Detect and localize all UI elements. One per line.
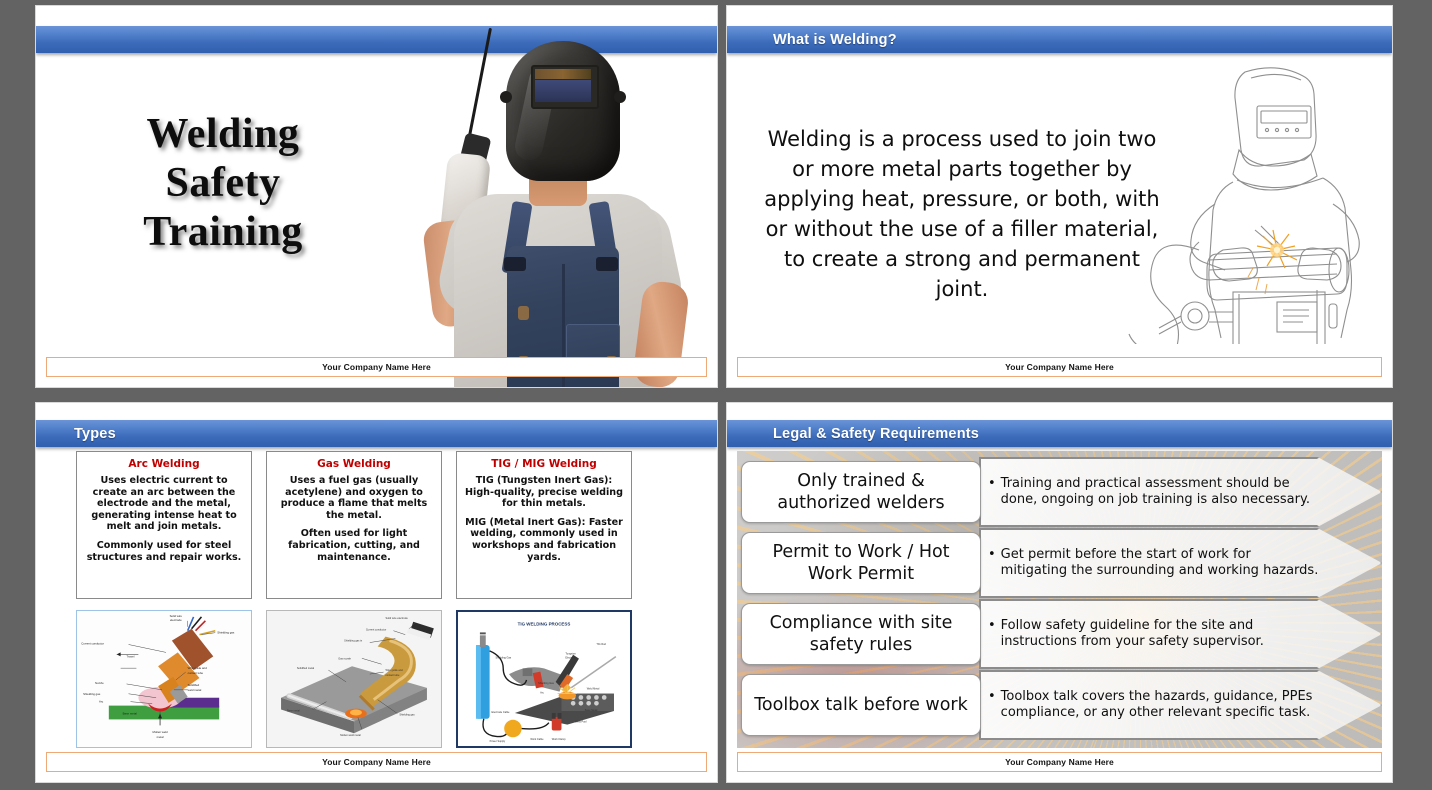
slide2-title-text: What is Welding? (727, 32, 897, 48)
svg-text:Base metal: Base metal (123, 711, 138, 715)
slide2-footer: Your Company Name Here (737, 357, 1382, 377)
slide4-title-bar: Legal & Safety Requirements (727, 420, 1392, 447)
svg-text:TIG Rod: TIG Rod (596, 643, 606, 646)
type-card-title: TIG / MIG Welding (464, 458, 624, 470)
svg-text:Shielding gas: Shielding gas (217, 631, 235, 635)
requirement-row: Only trained & authorized welders • Trai… (741, 457, 1382, 527)
svg-text:Current conductor: Current conductor (81, 642, 104, 646)
diagram-tig-welding: TIG WELDING PROCESS (456, 610, 632, 748)
svg-text:weld metal: weld metal (188, 688, 202, 692)
footer-company-name: Your Company Name Here (1005, 757, 1114, 767)
requirement-detail-text: Get permit before the start of work for … (1001, 547, 1321, 580)
requirement-detail: • Follow safety guideline for the site a… (980, 618, 1335, 651)
type-card-paragraph: Commonly used for steel structures and r… (84, 540, 244, 563)
svg-text:Solid wire electrode: Solid wire electrode (386, 616, 409, 620)
footer-company-name: Your Company Name Here (322, 757, 431, 767)
requirements-list: Only trained & authorized welders • Trai… (741, 457, 1382, 740)
svg-text:contact tube: contact tube (188, 671, 204, 675)
svg-text:Wire guide and: Wire guide and (386, 668, 404, 672)
type-card-paragraph: MIG (Metal Inert Gas): Faster welding, c… (464, 517, 624, 563)
svg-text:Tungsten: Tungsten (565, 653, 576, 656)
type-card-paragraph: Often used for light fabrication, cuttin… (274, 528, 434, 563)
slide-types[interactable]: Types Arc Welding Uses electric current … (36, 403, 717, 782)
svg-text:Shielding gas in: Shielding gas in (344, 639, 363, 643)
svg-text:Solidified metal: Solidified metal (297, 666, 315, 670)
svg-text:Gas nozzle: Gas nozzle (338, 656, 351, 660)
welding-types-row: Arc Welding Uses electric current to cre… (76, 451, 676, 599)
footer-company-name: Your Company Name Here (1005, 362, 1114, 372)
requirement-detail-text: Toolbox talk covers the hazards, guidanc… (1001, 689, 1321, 722)
title-line-2: Safety (78, 159, 368, 208)
svg-text:Work Cable: Work Cable (530, 738, 544, 741)
svg-text:Molten weld: Molten weld (152, 730, 168, 734)
requirement-chip[interactable]: Toolbox talk before work (741, 674, 981, 736)
requirement-arrow: • Get permit before the start of work fo… (979, 528, 1382, 598)
type-column-tig-mig: TIG / MIG Welding TIG (Tungsten Inert Ga… (456, 451, 632, 599)
helmet-lens (535, 80, 591, 102)
welding-definition-text: Welding is a process used to join two or… (757, 124, 1167, 304)
diagram-gas-welding: Solid wire electrode Current conductor S… (266, 610, 442, 748)
svg-text:Base Metal: Base Metal (585, 709, 598, 712)
requirement-chip[interactable]: Permit to Work / Hot Work Permit (741, 532, 981, 594)
welding-diagram-row: Solid wire electrode Shielding gas Curre… (76, 610, 676, 748)
slide-legal-safety[interactable]: Legal & Safety Requirements Only trained… (727, 403, 1392, 782)
requirement-detail: • Toolbox talk covers the hazards, guida… (980, 689, 1335, 722)
type-column-gas: Gas Welding Uses a fuel gas (usually ace… (266, 451, 442, 599)
bullet-icon: • (988, 689, 996, 722)
type-column-arc: Arc Welding Uses electric current to cre… (76, 451, 252, 599)
bullet-icon: • (988, 547, 996, 580)
type-card-paragraph: Uses a fuel gas (usually acetylene) and … (274, 475, 434, 521)
svg-text:Arc: Arc (540, 692, 545, 695)
overall-buckle-left (504, 257, 526, 271)
slide3-title-text: Types (36, 426, 116, 442)
type-card-paragraph: TIG (Tungsten Inert Gas): High-quality, … (464, 475, 624, 510)
requirement-detail-text: Follow safety guideline for the site and… (1001, 618, 1321, 651)
helmet-lens-display (535, 69, 591, 79)
requirement-detail-text: Training and practical assessment should… (1001, 476, 1321, 509)
helmet-knob-left (500, 91, 512, 103)
svg-text:Base metal: Base metal (287, 709, 300, 713)
diagram-arc-welding: Solid wire electrode Shielding gas Curre… (76, 610, 252, 748)
welder-photo (366, 6, 717, 387)
slide2-title-bar: What is Welding? (727, 26, 1392, 53)
requirement-chip[interactable]: Only trained & authorized welders (741, 461, 981, 523)
footer-company-name: Your Company Name Here (322, 362, 431, 372)
requirement-arrow: • Training and practical assessment shou… (979, 457, 1382, 527)
type-card-gas[interactable]: Gas Welding Uses a fuel gas (usually ace… (266, 451, 442, 599)
slide3-title-bar: Types (36, 420, 717, 447)
requirement-row: Compliance with site safety rules • Foll… (741, 599, 1382, 669)
svg-text:Electrode: Electrode (565, 657, 576, 660)
requirement-detail: • Training and practical assessment shou… (980, 476, 1335, 509)
requirement-arrow: • Follow safety guideline for the site a… (979, 599, 1382, 669)
helmet-knob-right (614, 91, 626, 103)
bullet-icon: • (988, 618, 996, 651)
svg-text:Wire guide and: Wire guide and (188, 666, 208, 670)
svg-text:Travel: Travel (127, 654, 135, 658)
slide4-title-text: Legal & Safety Requirements (727, 426, 979, 442)
svg-text:Solidified: Solidified (188, 683, 200, 687)
svg-text:Molten weld metal: Molten weld metal (340, 733, 361, 737)
svg-text:Shielding Gas: Shielding Gas (495, 657, 511, 660)
title-line-1: Welding (78, 110, 368, 159)
slide-title[interactable]: Welding Safety Training (36, 6, 717, 387)
type-card-title: Gas Welding (274, 458, 434, 470)
slide-deck: Welding Safety Training (0, 0, 1432, 790)
svg-text:Electrode Cable: Electrode Cable (492, 711, 511, 714)
svg-text:Nozzle: Nozzle (95, 681, 104, 685)
type-card-paragraph: Uses electric current to create an arc b… (84, 475, 244, 533)
requirement-row: Toolbox talk before work • Toolbox talk … (741, 670, 1382, 740)
slide1-footer: Your Company Name Here (46, 357, 707, 377)
svg-text:metal: metal (157, 735, 164, 739)
svg-text:Power Supply: Power Supply (490, 740, 506, 743)
type-card-title: Arc Welding (84, 458, 244, 470)
tig-diagram-title: TIG WELDING PROCESS (518, 622, 571, 627)
welding-rod-icon (467, 28, 492, 141)
svg-text:Shielding gas: Shielding gas (83, 692, 101, 696)
slide3-footer: Your Company Name Here (46, 752, 707, 772)
slide4-footer: Your Company Name Here (737, 752, 1382, 772)
svg-text:Shielding gas: Shielding gas (399, 712, 415, 716)
type-card-tig-mig[interactable]: TIG / MIG Welding TIG (Tungsten Inert Ga… (456, 451, 632, 599)
svg-text:Current conductor: Current conductor (366, 628, 387, 632)
bullet-icon: • (988, 476, 996, 509)
requirement-row: Permit to Work / Hot Work Permit • Get p… (741, 528, 1382, 598)
overall-buckle-right (596, 257, 618, 271)
page-title: Welding Safety Training (78, 110, 368, 257)
svg-text:Work Clamp: Work Clamp (552, 738, 566, 741)
title-line-3: Training (78, 208, 368, 257)
svg-text:Shielding Gas: Shielding Gas (538, 682, 554, 685)
svg-text:Weld Metal: Weld Metal (587, 688, 600, 691)
svg-text:Arc: Arc (99, 700, 104, 704)
type-card-arc[interactable]: Arc Welding Uses electric current to cre… (76, 451, 252, 599)
requirement-arrow: • Toolbox talk covers the hazards, guida… (979, 670, 1382, 740)
overall-button-1 (518, 306, 529, 320)
welder-line-drawing (1127, 54, 1392, 344)
svg-text:Weld Pool: Weld Pool (575, 721, 587, 724)
svg-text:contact tube: contact tube (386, 673, 400, 677)
svg-text:electrode: electrode (170, 618, 182, 622)
slide-what-is-welding[interactable]: What is Welding? Welding is a process us… (727, 6, 1392, 387)
requirement-chip[interactable]: Compliance with site safety rules (741, 603, 981, 665)
requirement-detail: • Get permit before the start of work fo… (980, 547, 1335, 580)
